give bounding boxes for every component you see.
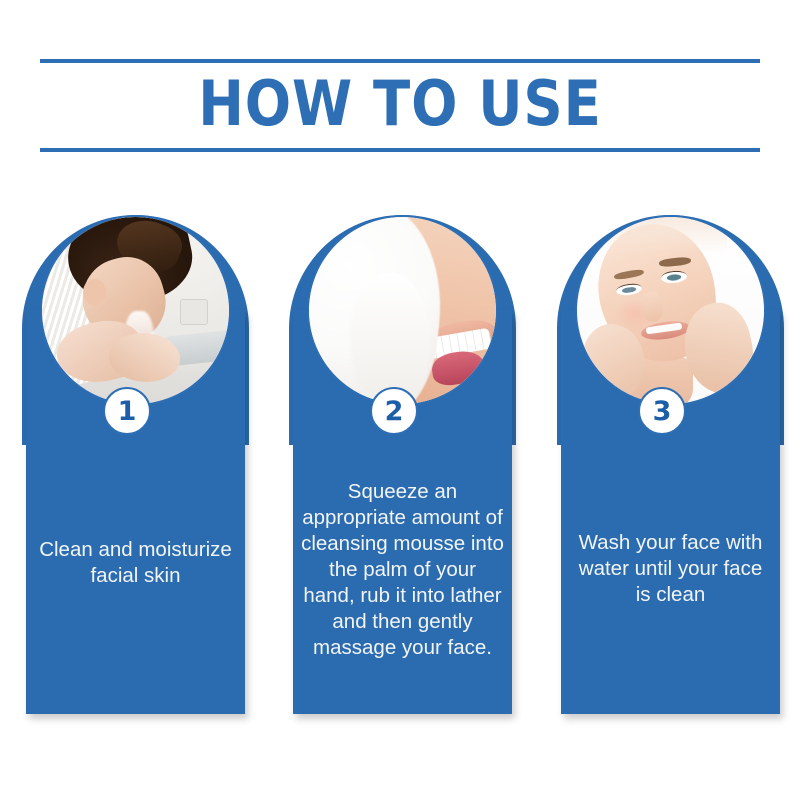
- step-card-1: 1 Clean and moisturize facial skin: [26, 215, 245, 714]
- how-to-use-infographic: HOW TO USE: [0, 0, 800, 800]
- step-number-2: 2: [385, 398, 404, 425]
- header-rule-bottom: [40, 148, 760, 152]
- woman-clean-face-photo: [577, 217, 764, 404]
- step-caption-1: Clean and moisturize facial skin: [34, 537, 237, 589]
- step-badge-3: 3: [638, 387, 686, 435]
- step-photo-2: [307, 215, 498, 406]
- step-caption-3: Wash your face with water until your fac…: [569, 530, 772, 608]
- step-caption-2: Squeeze an appropriate amount of cleansi…: [301, 479, 504, 661]
- step-number-3: 3: [653, 398, 672, 425]
- step-number-1: 1: [118, 398, 137, 425]
- woman-washing-face-photo: [42, 217, 229, 404]
- step-badge-2: 2: [370, 387, 418, 435]
- steps-container: 1 Clean and moisturize facial skin: [26, 215, 780, 720]
- cleansing-mousse-lather-photo: [309, 217, 496, 404]
- step-badge-1: 1: [103, 387, 151, 435]
- step-card-3: 3 Wash your face with water until your f…: [561, 215, 780, 714]
- page-title: HOW TO USE: [83, 63, 717, 145]
- step-photo-3: [575, 215, 766, 406]
- header: HOW TO USE: [40, 55, 760, 155]
- step-card-2: 2 Squeeze an appropriate amount of clean…: [293, 215, 512, 714]
- step-photo-1: [40, 215, 231, 406]
